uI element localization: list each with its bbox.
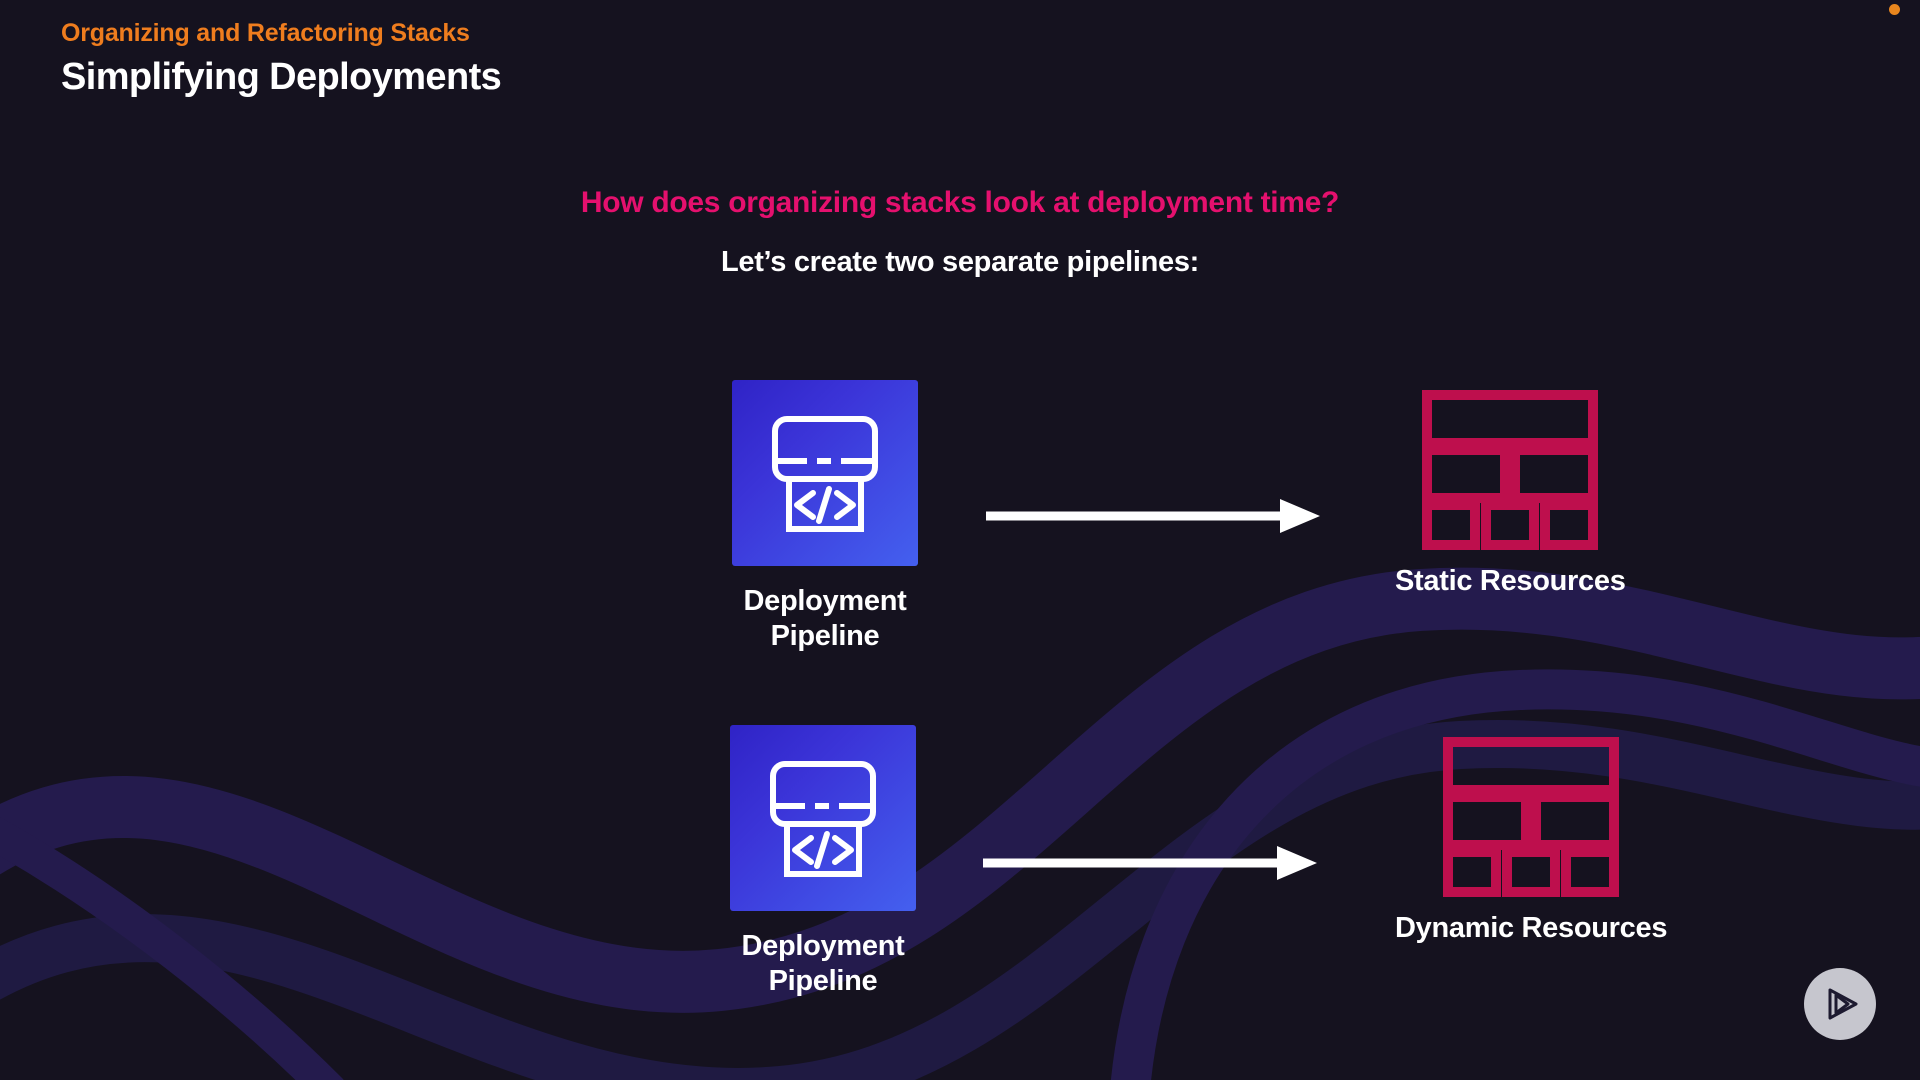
page-title: Simplifying Deployments (61, 56, 501, 100)
node-deployment-pipeline-static: Deployment Pipeline (732, 380, 918, 655)
printer-code-glyph (755, 403, 895, 543)
right-arrow-icon (984, 493, 1324, 539)
brick-wall-icon (1443, 737, 1619, 897)
node-static-resources: Static Resources (1395, 390, 1626, 599)
right-arrow-icon (981, 840, 1321, 886)
play-triangle-icon (1818, 982, 1862, 1026)
presentation-slide: Organizing and Refactoring Stacks Simpli… (0, 0, 1920, 1080)
notification-dot (1889, 4, 1900, 15)
pipeline-row-static: Deployment Pipeline Static Resources (0, 380, 1920, 680)
resource-label: Static Resources (1395, 564, 1626, 599)
node-label: Deployment Pipeline (742, 929, 905, 1000)
node-dynamic-resources: Dynamic Resources (1395, 737, 1667, 946)
sub-heading: Let’s create two separate pipelines: (0, 246, 1920, 279)
slide-header: Organizing and Refactoring Stacks Simpli… (61, 18, 501, 100)
question-heading: How does organizing stacks look at deplo… (0, 186, 1920, 220)
play-button[interactable] (1804, 968, 1876, 1040)
brick-wall-icon (1422, 390, 1598, 550)
node-deployment-pipeline-dynamic: Deployment Pipeline (730, 725, 916, 1000)
deployment-pipeline-icon (730, 725, 916, 911)
resource-label: Dynamic Resources (1395, 911, 1667, 946)
node-label: Deployment Pipeline (744, 584, 907, 655)
deployment-pipeline-icon (732, 380, 918, 566)
pipeline-row-dynamic: Deployment Pipeline Dynamic Resources (0, 725, 1920, 1025)
printer-code-glyph (753, 748, 893, 888)
section-kicker: Organizing and Refactoring Stacks (61, 18, 501, 48)
